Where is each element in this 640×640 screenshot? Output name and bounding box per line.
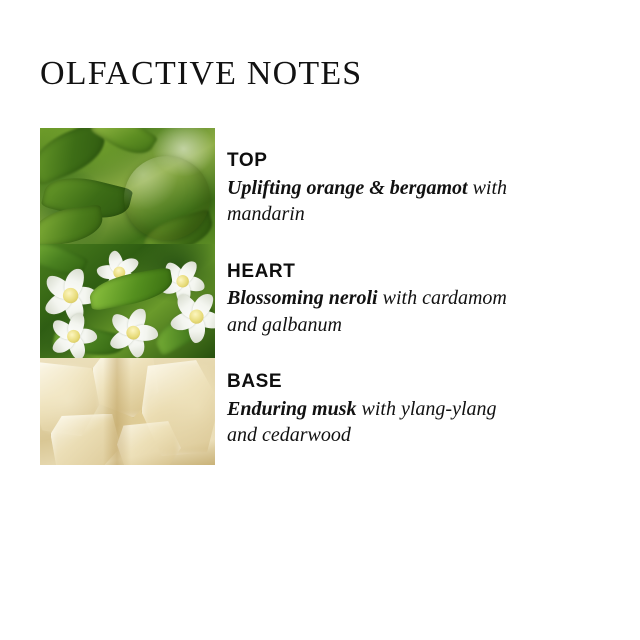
green-citrus-photo [40,128,215,244]
blossom-shape [42,305,104,358]
neroli-blossom-photo [40,244,215,358]
citrus-fruit-shape [124,156,210,240]
note-lead-heart: Blossoming neroli [227,287,378,309]
note-label-base: BASE [227,370,527,394]
leaf-shape [40,204,105,244]
musk-resin-photo [40,358,215,465]
olfactive-notes-page: OLFACTIVE NOTES [0,0,640,640]
note-block-heart: HEART Blossoming neroli with cardamom an… [227,260,527,339]
page-title: OLFACTIVE NOTES [40,55,362,92]
note-label-top: TOP [227,149,527,173]
note-lead-base: Enduring musk [227,398,357,420]
olfactive-notes-list: TOP Uplifting orange & bergamot with man… [227,149,527,449]
note-lead-top: Uplifting orange & bergamot [227,177,468,199]
olfactive-note-imagery [40,128,215,465]
note-block-top: TOP Uplifting orange & bergamot with man… [227,149,527,228]
note-label-heart: HEART [227,260,527,284]
blossom-shape [163,283,215,348]
note-block-base: BASE Enduring musk with ylang-ylang and … [227,370,527,449]
note-description-base: Enduring musk with ylang-ylang and cedar… [227,396,527,449]
note-description-top: Uplifting orange & bergamot with mandari… [227,175,527,228]
note-description-heart: Blossoming neroli with cardamom and galb… [227,285,527,338]
resin-shadow [103,358,131,465]
